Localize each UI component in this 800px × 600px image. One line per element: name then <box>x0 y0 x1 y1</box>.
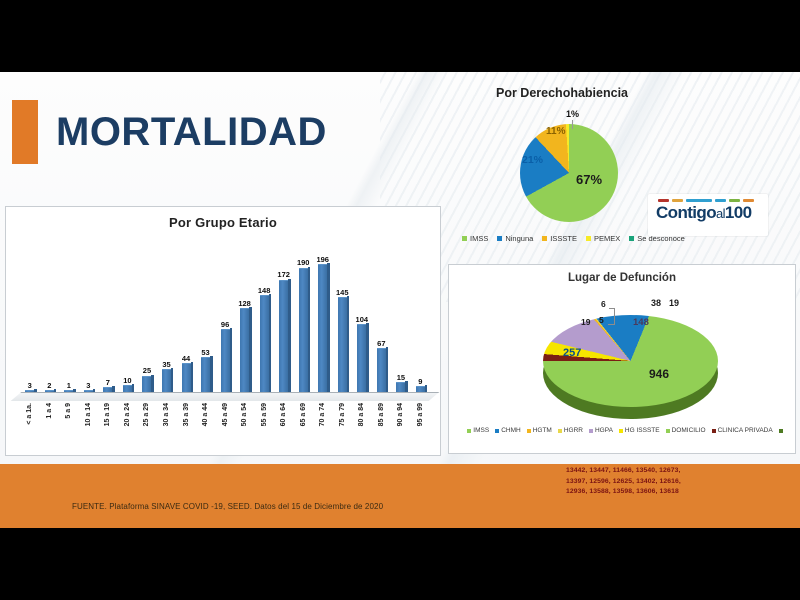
bar-axis-label: 55 a 59 <box>254 403 274 451</box>
footer-bar: FUENTE. Plataforma SINAVE COVID -19, SEE… <box>0 464 800 528</box>
bar-axis-label: 50 a 54 <box>235 403 255 451</box>
bar-axis-label: 70 a 74 <box>313 403 333 451</box>
legend-item: IMSS <box>467 427 489 434</box>
bar-rect <box>240 308 249 392</box>
footer-number-line: 13397, 12596, 12625, 13402, 12616, <box>566 477 681 488</box>
legend-item: HGRR <box>558 427 583 434</box>
bar-column: 96 <box>215 237 235 392</box>
logo-dash <box>743 199 754 202</box>
bar-axis-label: 10 a 14 <box>79 403 99 451</box>
bar-axis-label: 60 a 64 <box>274 403 294 451</box>
bar-value-label: 128 <box>238 300 251 308</box>
legend-label: PEMEX <box>594 234 620 243</box>
bar-rect <box>357 324 366 392</box>
bar-chart-panel: Por Grupo Etario 32137102535445396128148… <box>5 206 441 456</box>
bar-rect <box>279 280 288 392</box>
title-text: MORTALIDAD <box>56 110 327 155</box>
legend-label: IMSS <box>473 427 489 434</box>
bar-value-label: 35 <box>162 361 170 369</box>
bar-value-label: 10 <box>123 377 131 385</box>
bar-value-label: 53 <box>201 349 209 357</box>
bar-value-label: 172 <box>277 271 290 279</box>
legend-item: HGPA <box>589 427 613 434</box>
pie-value-hgissste: 148 <box>633 317 649 328</box>
bar-column: 67 <box>372 237 392 392</box>
bar-column: 7 <box>98 237 118 392</box>
bar-axis-label: 45 a 49 <box>215 403 235 451</box>
bar-axis-label: 25 a 29 <box>137 403 157 451</box>
legend-item: ISSSTE <box>542 234 577 243</box>
letterbox-bottom <box>0 528 800 600</box>
logo-text: Contigoal100 <box>656 204 760 221</box>
bar-value-label: 145 <box>336 289 349 297</box>
legend-label: DOMICILIO <box>672 427 706 434</box>
legend-item <box>779 429 785 433</box>
legend-item: HGTM <box>527 427 552 434</box>
bar-column: 25 <box>137 237 157 392</box>
legend-label: ISSSTE <box>550 234 577 243</box>
bar-chart-axis <box>11 392 440 401</box>
bar-rect <box>299 268 308 392</box>
bar-column: 145 <box>333 237 353 392</box>
contigo-al-100-logo: Contigoal100 <box>648 194 768 236</box>
bar-column: 104 <box>352 237 372 392</box>
footer-number-line: 13442, 13447, 11466, 13540, 12673, <box>566 466 681 477</box>
logo-dash <box>672 199 683 202</box>
bar-value-label: 9 <box>418 378 422 386</box>
pie-lugar-defuncion-legend: IMSSCHMHHGTMHGRRHGPAHG ISSSTEDOMICILIOCL… <box>455 427 797 434</box>
bar-column: 3 <box>79 237 99 392</box>
legend-item: CLINICA PRIVADA <box>712 427 773 434</box>
pie-3d-top <box>543 315 718 407</box>
bar-column: 15 <box>391 237 411 392</box>
pie-derechohabiencia-disc <box>520 124 618 222</box>
bar-column: 172 <box>274 237 294 392</box>
legend-item: HG ISSSTE <box>619 427 660 434</box>
bar-rect <box>201 357 210 392</box>
pie-slice-label-pemex: 1% <box>566 109 579 119</box>
bar-axis-label: 15 a 19 <box>98 403 118 451</box>
legend-swatch-icon <box>462 236 467 241</box>
logo-dash <box>729 199 740 202</box>
bar-value-label: 96 <box>221 321 229 329</box>
bar-axis-label: 65 a 69 <box>293 403 313 451</box>
bar-axis-label: 35 a 39 <box>176 403 196 451</box>
bar-value-label: 3 <box>28 382 32 390</box>
bar-column: 2 <box>40 237 60 392</box>
legend-label: HG ISSSTE <box>625 427 660 434</box>
bar-rect <box>142 376 151 392</box>
legend-swatch-icon <box>666 429 670 433</box>
footer-number-line: 12936, 13588, 13598, 13606, 13618 <box>566 487 681 498</box>
pie-slice-label-issste: 11% <box>546 126 565 137</box>
title-accent-bar <box>12 100 38 164</box>
pie-slice-label-ninguna: 21% <box>522 154 543 166</box>
pie-value-hgtm: 19 <box>581 317 590 327</box>
legend-label: HGRR <box>564 427 583 434</box>
bar-value-label: 15 <box>397 374 405 382</box>
legend-swatch-icon <box>497 236 502 241</box>
bar-axis-label: 5 a 9 <box>59 403 79 451</box>
pie-value-domicilio: 38 <box>651 298 661 308</box>
bar-column: 196 <box>313 237 333 392</box>
logo-dash <box>715 199 726 202</box>
bar-value-label: 25 <box>143 367 151 375</box>
bar-column: 190 <box>293 237 313 392</box>
bar-value-label: 190 <box>297 259 310 267</box>
bar-column: 128 <box>235 237 255 392</box>
legend-label: CHMH <box>501 427 521 434</box>
bar-value-label: 196 <box>316 256 329 264</box>
bar-value-label: 44 <box>182 355 190 363</box>
bar-value-label: 3 <box>86 382 90 390</box>
legend-label: Ninguna <box>505 234 533 243</box>
legend-item: Ninguna <box>497 234 533 243</box>
legend-swatch-icon <box>629 236 634 241</box>
pie-lugar-defuncion-plot: 946 257 19 5 6 148 38 19 <box>501 291 749 416</box>
legend-label: CLINICA PRIVADA <box>718 427 773 434</box>
pie-value-chmh: 257 <box>563 347 581 359</box>
pie-value-hgpa: 6 <box>601 299 606 309</box>
legend-item: CHMH <box>495 427 521 434</box>
legend-swatch-icon <box>779 429 783 433</box>
pie-lugar-defuncion-title: Lugar de Defunción <box>449 272 795 284</box>
bar-rect <box>377 348 386 392</box>
footer-numbers: 13442, 13447, 11466, 13540, 12673,13397,… <box>566 466 681 498</box>
bar-value-label: 148 <box>258 287 271 295</box>
bar-chart-plot: 3213710253544539612814817219019614510467… <box>20 237 430 392</box>
bar-axis-label: 1 a 4 <box>40 403 60 451</box>
bar-column: 53 <box>196 237 216 392</box>
bar-axis-label: 95 a 99 <box>411 403 431 451</box>
logo-contigo: Contigo <box>656 203 716 222</box>
logo-dash <box>686 199 712 202</box>
bar-axis-label: 75 a 79 <box>333 403 353 451</box>
legend-swatch-icon <box>589 429 593 433</box>
bar-column: 35 <box>157 237 177 392</box>
legend-swatch-icon <box>542 236 547 241</box>
bar-column: 148 <box>254 237 274 392</box>
pie-derechohabiencia-title: Por Derechohabiencia <box>450 86 795 100</box>
pie-value-imss: 946 <box>649 367 669 381</box>
bar-chart-axis-labels: < a 1a.1 a 45 a 910 a 1415 a 1920 a 2425… <box>20 403 430 451</box>
bar-axis-label: 30 a 34 <box>157 403 177 451</box>
bar-chart-title: Por Grupo Etario <box>6 215 440 230</box>
bar-rect <box>260 295 269 392</box>
pie-derechohabiencia-plot: 67% 21% 11% 1% <box>478 110 668 230</box>
legend-swatch-icon <box>495 429 499 433</box>
bar-rect <box>318 264 327 392</box>
leader-line-top <box>609 308 615 309</box>
legend-item: PEMEX <box>586 234 620 243</box>
bar-axis-label: < a 1a. <box>20 403 40 451</box>
slide-canvas: MORTALIDAD Por Grupo Etario 321371025354… <box>0 72 800 528</box>
legend-swatch-icon <box>558 429 562 433</box>
legend-label: HGTM <box>533 427 552 434</box>
legend-item: IMSS <box>462 234 488 243</box>
pie-lugar-defuncion-panel: Lugar de Defunción 946 257 19 5 6 148 38… <box>448 264 796 454</box>
pie-slice-label-imss: 67% <box>576 172 602 187</box>
legend-swatch-icon <box>467 429 471 433</box>
bar-axis-label: 90 a 94 <box>391 403 411 451</box>
legend-label: IMSS <box>470 234 488 243</box>
bar-axis-label: 40 a 44 <box>196 403 216 451</box>
leader-line-vertical <box>614 309 615 325</box>
legend-swatch-icon <box>619 429 623 433</box>
bar-value-label: 2 <box>47 382 51 390</box>
bar-axis-label: 20 a 24 <box>118 403 138 451</box>
legend-label: HGPA <box>595 427 613 434</box>
page-title: MORTALIDAD <box>12 100 327 164</box>
bar-value-label: 7 <box>106 379 110 387</box>
bar-axis-label: 85 a 89 <box>372 403 392 451</box>
logo-100: 100 <box>725 203 752 222</box>
bar-value-label: 1 <box>67 382 71 390</box>
bar-rect <box>396 382 405 392</box>
footer-source-text: FUENTE. Plataforma SINAVE COVID -19, SEE… <box>72 502 383 511</box>
bar-column: 9 <box>411 237 431 392</box>
pie-value-hgrr: 5 <box>599 315 604 325</box>
pie-value-clinica-privada: 19 <box>669 298 679 308</box>
logo-dashes <box>656 199 760 202</box>
bar-rect <box>162 369 171 392</box>
bar-column: 44 <box>176 237 196 392</box>
bar-rect <box>338 297 347 392</box>
bar-column: 10 <box>118 237 138 392</box>
bar-column: 1 <box>59 237 79 392</box>
legend-item: DOMICILIO <box>666 427 706 434</box>
bar-value-label: 67 <box>377 340 385 348</box>
bar-rect <box>221 329 230 392</box>
legend-swatch-icon <box>712 429 716 433</box>
letterbox-top <box>0 0 800 72</box>
leader-line-bottom <box>608 324 615 325</box>
logo-dash <box>658 199 669 202</box>
bar-axis-label: 80 a 84 <box>352 403 372 451</box>
logo-al: al <box>716 206 725 221</box>
bar-column: 3 <box>20 237 40 392</box>
bar-value-label: 104 <box>356 316 369 324</box>
bar-rect <box>182 363 191 392</box>
legend-swatch-icon <box>527 429 531 433</box>
legend-swatch-icon <box>586 236 591 241</box>
